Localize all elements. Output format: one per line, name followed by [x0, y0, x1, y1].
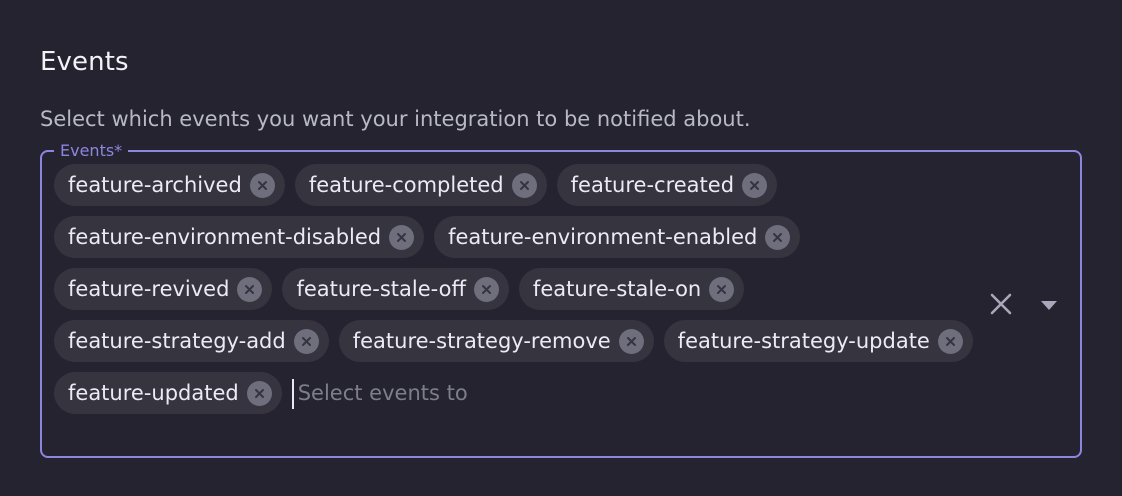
- event-chip[interactable]: feature-strategy-add: [54, 320, 329, 362]
- circle-x-icon[interactable]: [619, 329, 644, 354]
- event-chip[interactable]: feature-completed: [295, 164, 547, 206]
- event-chip-label: feature-revived: [68, 279, 237, 300]
- page-title: Events: [40, 45, 129, 79]
- section-description: Select which events you want your integr…: [40, 104, 751, 134]
- circle-x-icon[interactable]: [938, 329, 963, 354]
- circle-x-icon[interactable]: [250, 173, 275, 198]
- input-placeholder: Select events to: [292, 372, 468, 414]
- circle-x-icon[interactable]: [474, 277, 499, 302]
- event-chip-label: feature-completed: [309, 175, 512, 196]
- event-chip[interactable]: feature-strategy-remove: [339, 320, 654, 362]
- event-chip[interactable]: feature-updated: [54, 372, 282, 414]
- event-chip[interactable]: feature-created: [557, 164, 777, 206]
- event-chip[interactable]: feature-revived: [54, 268, 272, 310]
- event-chip-label: feature-archived: [68, 175, 250, 196]
- event-chip[interactable]: feature-environment-disabled: [54, 216, 424, 258]
- event-chip-label: feature-strategy-update: [678, 331, 938, 352]
- circle-x-icon[interactable]: [247, 381, 272, 406]
- event-chip-label: feature-strategy-add: [68, 331, 294, 352]
- event-chip-label: feature-updated: [68, 383, 247, 404]
- event-chip-label: feature-stale-on: [533, 279, 709, 300]
- event-chip[interactable]: feature-environment-enabled: [434, 216, 800, 258]
- events-search-input[interactable]: Select events to: [292, 372, 982, 414]
- chevron-down-icon[interactable]: [1032, 287, 1066, 321]
- circle-x-icon[interactable]: [237, 277, 262, 302]
- event-chip-label: feature-created: [571, 175, 742, 196]
- event-chip[interactable]: feature-stale-off: [282, 268, 508, 310]
- circle-x-icon[interactable]: [709, 277, 734, 302]
- event-chip-label: feature-stale-off: [296, 279, 473, 300]
- event-chip-label: feature-strategy-remove: [353, 331, 619, 352]
- event-chip[interactable]: feature-strategy-update: [664, 320, 973, 362]
- event-chip-label: feature-environment-disabled: [68, 227, 389, 248]
- circle-x-icon[interactable]: [294, 329, 319, 354]
- event-chip[interactable]: feature-stale-on: [519, 268, 744, 310]
- circle-x-icon[interactable]: [765, 225, 790, 250]
- event-chip-label: feature-environment-enabled: [448, 227, 765, 248]
- circle-x-icon[interactable]: [742, 173, 767, 198]
- events-multiselect-field[interactable]: Events* feature-archivedfeature-complete…: [40, 150, 1082, 458]
- field-actions: [984, 150, 1066, 458]
- events-settings-panel: Events Select which events you want your…: [0, 0, 1122, 496]
- circle-x-icon[interactable]: [389, 225, 414, 250]
- close-x-icon[interactable]: [984, 287, 1018, 321]
- chip-container[interactable]: feature-archivedfeature-completedfeature…: [40, 150, 1082, 458]
- event-chip[interactable]: feature-archived: [54, 164, 285, 206]
- text-caret: [292, 379, 294, 409]
- circle-x-icon[interactable]: [512, 173, 537, 198]
